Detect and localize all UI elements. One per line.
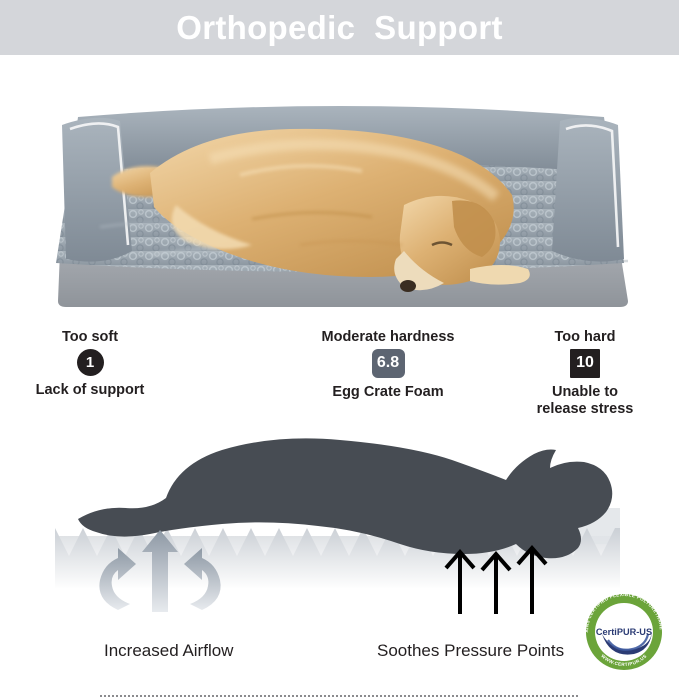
certipur-logo: CertiPUR-US CONTAINS CERTIFIED FLEXIBLE … — [578, 588, 670, 673]
scale-stop-top-label: Moderate hardness — [303, 330, 473, 346]
infographic-page: Orthopedic Support — [0, 0, 679, 673]
product-photo-illustration — [0, 55, 679, 323]
hardness-scale: Too soft 1 Lack of support Moderate hard… — [0, 330, 679, 426]
caption-soothes-pressure-points: Soothes Pressure Points — [377, 641, 564, 661]
scale-stop-bottom-line2: release stress — [500, 401, 670, 418]
scale-stop-bottom-label: Lack of support — [5, 382, 175, 399]
scale-stop-bottom-label: Unable to release stress — [500, 384, 670, 417]
scale-stop-top-label: Too soft — [5, 330, 175, 346]
product-photo — [0, 55, 679, 323]
scale-stop-bottom-label: Egg Crate Foam — [303, 384, 473, 401]
scale-stop-too-soft: Too soft 1 Lack of support — [5, 330, 175, 399]
scale-stop-too-hard: Too hard 10 Unable to release stress — [500, 330, 670, 417]
certipur-us-badge: CertiPUR-US CONTAINS CERTIFIED FLEXIBLE … — [578, 588, 670, 673]
scale-marker-1: 1 — [77, 349, 104, 376]
caption-increased-airflow: Increased Airflow — [104, 641, 233, 661]
certipur-brand-text: CertiPUR-US — [596, 627, 652, 637]
scale-marker-10: 10 — [570, 349, 600, 378]
page-title: Orthopedic Support — [176, 11, 503, 44]
dog-nose — [400, 280, 416, 292]
pressure-arrows — [446, 548, 546, 614]
scale-stop-moderate: Moderate hardness 6.8 Egg Crate Foam — [303, 330, 473, 401]
scale-stop-top-label: Too hard — [500, 330, 670, 346]
scale-stop-bottom-line1: Unable to — [500, 384, 670, 401]
scale-marker-6-8: 6.8 — [372, 349, 405, 378]
dog-paw — [470, 265, 530, 285]
header-band: Orthopedic Support — [0, 0, 679, 55]
